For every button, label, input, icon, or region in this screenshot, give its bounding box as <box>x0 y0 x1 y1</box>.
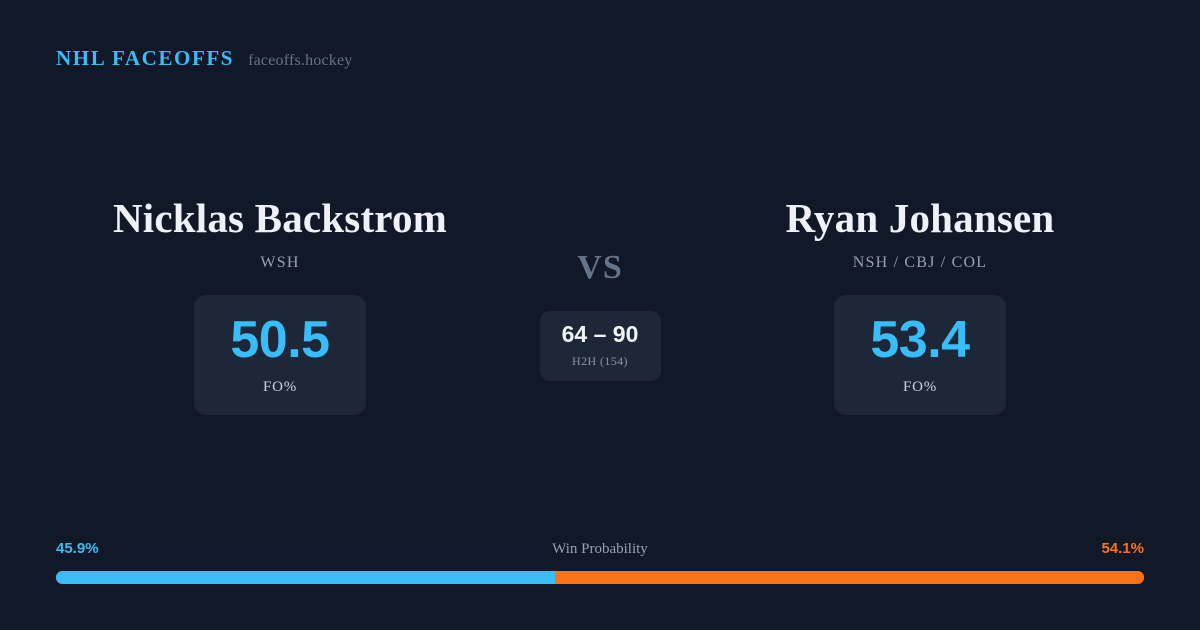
win-probability-right-value: 54.1% <box>1101 540 1144 557</box>
win-probability-section: 45.9% Win Probability 54.1% <box>56 540 1144 584</box>
matchup-row: Nicklas Backstrom WSH 50.5 FO% VS 64 – 9… <box>0 196 1200 415</box>
player-right: Ryan Johansen NSH / CBJ / COL 53.4 FO% <box>680 196 1160 415</box>
player-right-teams: NSH / CBJ / COL <box>853 254 987 272</box>
win-probability-title: Win Probability <box>56 541 1144 558</box>
player-right-faceoff-pct-label: FO% <box>903 379 937 396</box>
player-right-name: Ryan Johansen <box>786 196 1055 241</box>
head-to-head-record: 64 – 90 <box>562 323 639 346</box>
head-to-head-label: H2H (154) <box>572 354 628 369</box>
player-left-faceoff-pct-value: 50.5 <box>230 314 329 366</box>
matchup-graphic: NHL FACEOFFS faceoffs.hockey Nicklas Bac… <box>0 0 1200 630</box>
win-probability-bar-right-fill <box>555 571 1144 584</box>
brand-title: NHL FACEOFFS <box>56 46 234 71</box>
matchup-center: VS 64 – 90 H2H (154) <box>520 196 680 381</box>
player-right-faceoff-pct-value: 53.4 <box>870 314 969 366</box>
head-to-head-box: 64 – 90 H2H (154) <box>540 311 661 381</box>
player-left-faceoff-pct-label: FO% <box>263 379 297 396</box>
win-probability-labels: 45.9% Win Probability 54.1% <box>56 540 1144 562</box>
win-probability-bar-left-fill <box>56 571 555 584</box>
win-probability-bar <box>56 571 1144 584</box>
player-left: Nicklas Backstrom WSH 50.5 FO% <box>40 196 520 415</box>
player-left-teams: WSH <box>260 254 299 272</box>
site-header: NHL FACEOFFS faceoffs.hockey <box>56 46 353 71</box>
player-left-name: Nicklas Backstrom <box>113 196 447 241</box>
player-right-stat-card: 53.4 FO% <box>834 295 1006 415</box>
brand-domain: faceoffs.hockey <box>248 52 352 70</box>
vs-label: VS <box>577 251 622 285</box>
player-left-stat-card: 50.5 FO% <box>194 295 366 415</box>
